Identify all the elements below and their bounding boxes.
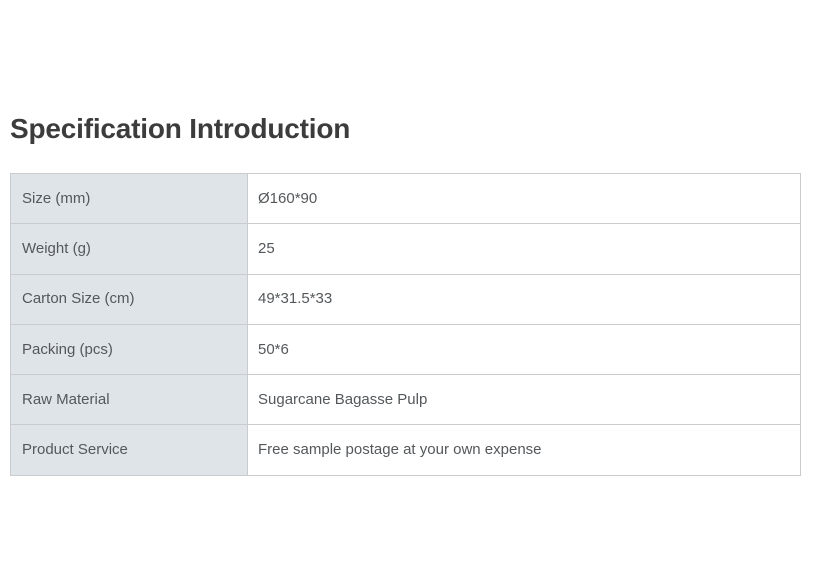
table-row: Weight (g) 25 (11, 224, 801, 274)
specification-page: Specification Introduction Size (mm) Ø16… (0, 0, 822, 574)
specification-table-body: Size (mm) Ø160*90 Weight (g) 25 Carton S… (11, 174, 801, 476)
specification-table-container: Size (mm) Ø160*90 Weight (g) 25 Carton S… (10, 173, 800, 476)
spec-label-cell: Raw Material (11, 375, 248, 425)
page-title: Specification Introduction (10, 111, 350, 147)
spec-value-cell: Free sample postage at your own expense (248, 425, 801, 475)
spec-label-cell: Size (mm) (11, 174, 248, 224)
spec-label-cell: Weight (g) (11, 224, 248, 274)
spec-value-cell: 50*6 (248, 324, 801, 374)
spec-label-cell: Product Service (11, 425, 248, 475)
spec-label-cell: Packing (pcs) (11, 324, 248, 374)
table-row: Size (mm) Ø160*90 (11, 174, 801, 224)
spec-value-cell: 25 (248, 224, 801, 274)
table-row: Product Service Free sample postage at y… (11, 425, 801, 475)
table-row: Packing (pcs) 50*6 (11, 324, 801, 374)
spec-value-cell: 49*31.5*33 (248, 274, 801, 324)
table-row: Raw Material Sugarcane Bagasse Pulp (11, 375, 801, 425)
table-row: Carton Size (cm) 49*31.5*33 (11, 274, 801, 324)
spec-value-cell: Ø160*90 (248, 174, 801, 224)
spec-value-cell: Sugarcane Bagasse Pulp (248, 375, 801, 425)
specification-table: Size (mm) Ø160*90 Weight (g) 25 Carton S… (10, 173, 801, 476)
spec-label-cell: Carton Size (cm) (11, 274, 248, 324)
